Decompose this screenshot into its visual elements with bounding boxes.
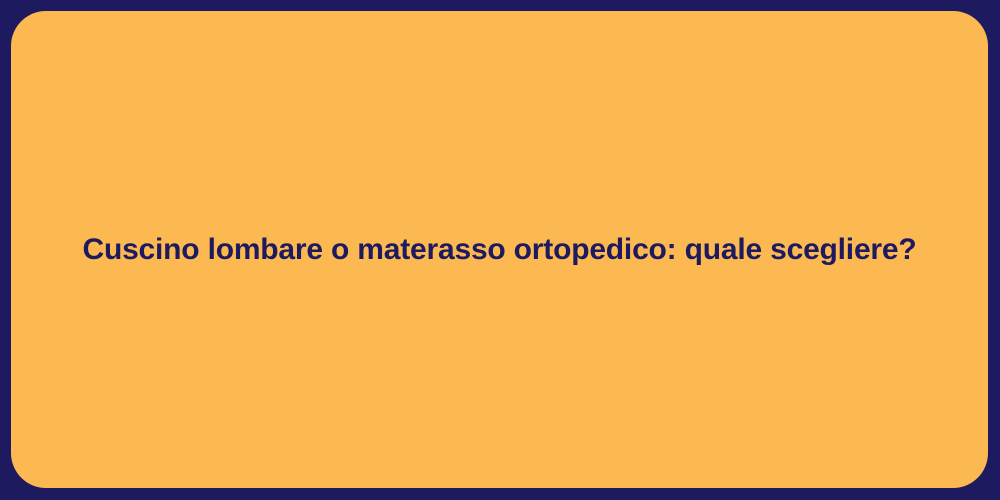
banner-root: Cuscino lombare o materasso ortopedico: … — [0, 0, 1000, 500]
card-title: Cuscino lombare o materasso ortopedico: … — [82, 231, 916, 269]
banner-card: Cuscino lombare o materasso ortopedico: … — [11, 11, 988, 488]
